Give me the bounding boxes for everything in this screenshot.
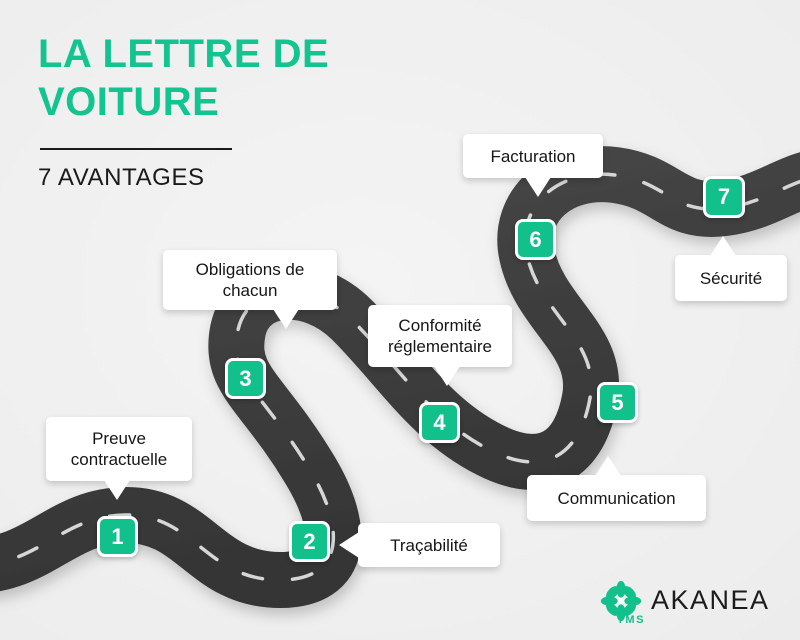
logo-wordmark: AKANEA <box>651 586 770 614</box>
callout-step-3-line-2: chacun <box>223 280 278 301</box>
step-marker-6[interactable]: 6 <box>515 219 556 260</box>
step-marker-3[interactable]: 3 <box>225 358 266 399</box>
infographic-canvas: LA LETTRE DE VOITURE 7 AVANTAGES Preuve … <box>0 0 800 640</box>
callout-tail-down-icon <box>434 366 460 386</box>
callout-tail-left-icon <box>339 532 359 558</box>
callout-tail-up-icon <box>710 236 736 256</box>
callout-step-7[interactable]: Sécurité <box>675 255 787 301</box>
callout-tail-down-icon <box>273 309 299 329</box>
logo-sub-label: TMS <box>617 614 645 626</box>
callout-step-6[interactable]: Facturation <box>463 134 603 178</box>
logo-text: AKANEA TMS <box>651 586 770 616</box>
callout-tail-down-icon <box>104 480 130 500</box>
callout-step-1-line-1: Preuve <box>92 428 146 449</box>
akanea-logo[interactable]: AKANEA TMS <box>600 580 770 622</box>
callout-step-5-label: Communication <box>557 488 675 509</box>
callout-tail-up-icon <box>595 456 621 476</box>
step-marker-5[interactable]: 5 <box>597 382 638 423</box>
callout-step-6-label: Facturation <box>490 146 575 167</box>
step-marker-3-number: 3 <box>239 366 251 392</box>
step-marker-5-number: 5 <box>611 390 623 416</box>
callout-step-3[interactable]: Obligations de chacun <box>163 250 337 310</box>
step-marker-2[interactable]: 2 <box>289 521 330 562</box>
step-marker-1-number: 1 <box>111 524 123 550</box>
step-marker-7[interactable]: 7 <box>703 176 745 218</box>
callout-step-5[interactable]: Communication <box>527 475 706 521</box>
step-marker-4-number: 4 <box>433 410 445 436</box>
callout-step-2[interactable]: Traçabilité <box>358 523 500 567</box>
callout-step-4-line-2: réglementaire <box>388 336 492 357</box>
step-marker-7-number: 7 <box>718 184 730 210</box>
step-marker-6-number: 6 <box>529 227 541 253</box>
callout-step-1-line-2: contractuelle <box>71 449 167 470</box>
callout-step-1[interactable]: Preuve contractuelle <box>46 417 192 481</box>
callout-step-3-line-1: Obligations de <box>196 259 305 280</box>
callout-step-4-line-1: Conformité <box>398 315 481 336</box>
step-marker-2-number: 2 <box>303 529 315 555</box>
callout-tail-down-icon <box>525 177 551 197</box>
step-marker-4[interactable]: 4 <box>419 402 460 443</box>
callout-step-4[interactable]: Conformité réglementaire <box>368 305 512 367</box>
callout-step-2-label: Traçabilité <box>390 535 468 556</box>
step-marker-1[interactable]: 1 <box>97 516 138 557</box>
callout-step-7-label: Sécurité <box>700 268 762 289</box>
